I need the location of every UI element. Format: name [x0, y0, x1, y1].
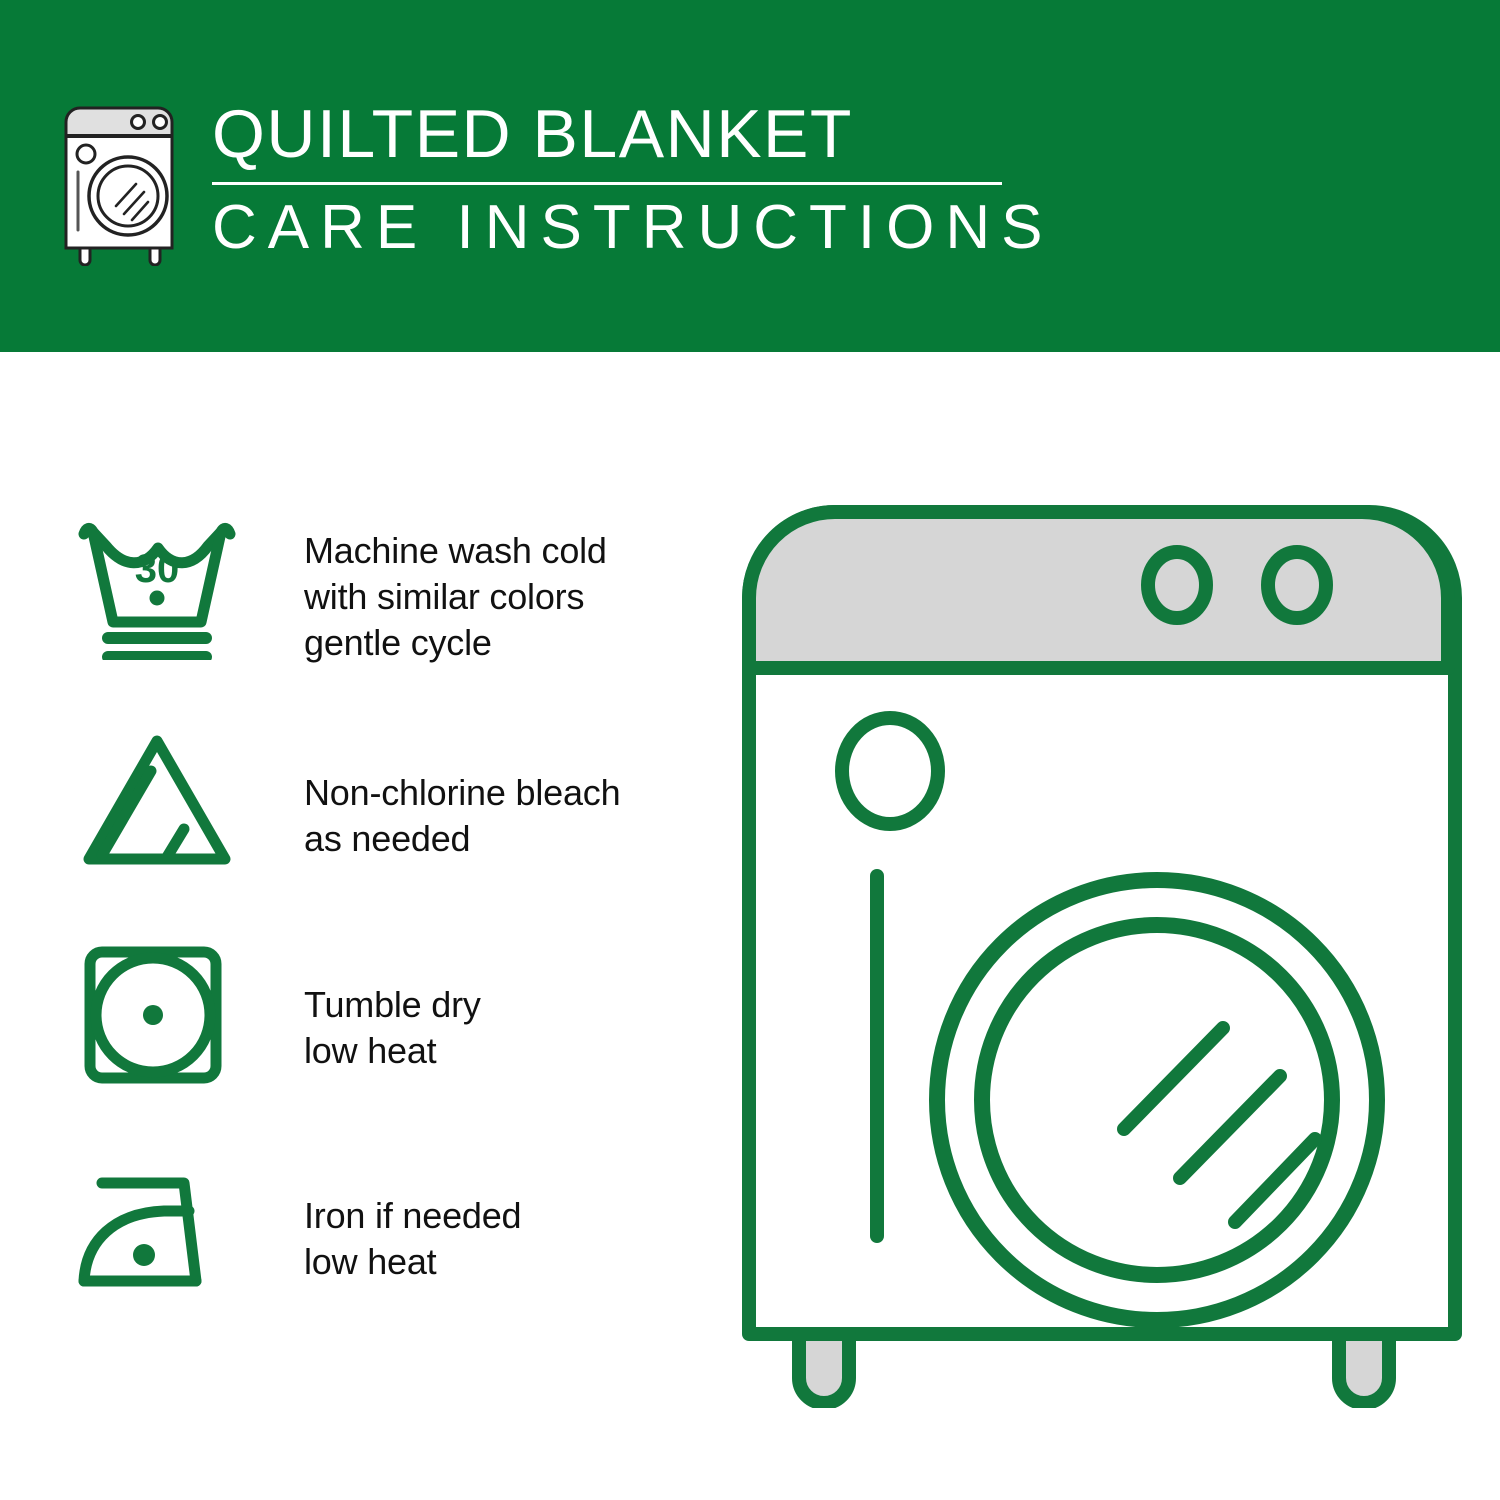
- care-row-tumble-dry: Tumble dry low heat: [72, 940, 712, 1155]
- care-text-bleach: Non-chlorine bleach as needed: [242, 725, 712, 862]
- care-text-iron: Iron if needed low heat: [242, 1155, 712, 1285]
- front-load-washing-machine-illustration: [742, 498, 1462, 1408]
- care-line: Iron if needed: [304, 1193, 712, 1239]
- care-line: as needed: [304, 816, 712, 862]
- machine-leg-right: [1339, 1334, 1389, 1403]
- iron-icon: [72, 1155, 242, 1305]
- header-title-group: QUILTED BLANKET CARE INSTRUCTIONS: [212, 96, 1053, 260]
- page-title: QUILTED BLANKET: [212, 100, 1053, 168]
- header-banner: QUILTED BLANKET CARE INSTRUCTIONS: [0, 0, 1500, 352]
- title-divider: [212, 182, 1002, 185]
- header-content: QUILTED BLANKET CARE INSTRUCTIONS: [58, 96, 1053, 266]
- care-line: Tumble dry: [304, 982, 712, 1028]
- tumble-dry-icon: [72, 940, 242, 1090]
- control-panel: [749, 512, 1448, 668]
- care-instruction-list: 30 Machine wash cold with similar colors…: [72, 510, 712, 1370]
- care-text-tumble-dry: Tumble dry low heat: [242, 940, 712, 1074]
- care-line: Machine wash cold: [304, 528, 712, 574]
- care-line: with similar colors: [304, 574, 712, 620]
- care-line: low heat: [304, 1239, 712, 1285]
- washing-machine-icon: [58, 96, 188, 266]
- care-line: low heat: [304, 1028, 712, 1074]
- page-subtitle: CARE INSTRUCTIONS: [212, 195, 1053, 260]
- care-row-iron: Iron if needed low heat: [72, 1155, 712, 1370]
- care-line: gentle cycle: [304, 620, 712, 666]
- bleach-triangle-icon: [72, 725, 242, 875]
- machine-leg-left: [799, 1334, 849, 1403]
- care-instructions-page: QUILTED BLANKET CARE INSTRUCTIONS: [0, 0, 1500, 1500]
- wash-tub-30-icon: 30: [72, 510, 242, 660]
- wash-temperature-label: 30: [135, 547, 180, 591]
- care-text-machine-wash: Machine wash cold with similar colors ge…: [242, 510, 712, 666]
- care-line: Non-chlorine bleach: [304, 770, 712, 816]
- care-row-bleach: Non-chlorine bleach as needed: [72, 725, 712, 940]
- care-row-machine-wash: 30 Machine wash cold with similar colors…: [72, 510, 712, 725]
